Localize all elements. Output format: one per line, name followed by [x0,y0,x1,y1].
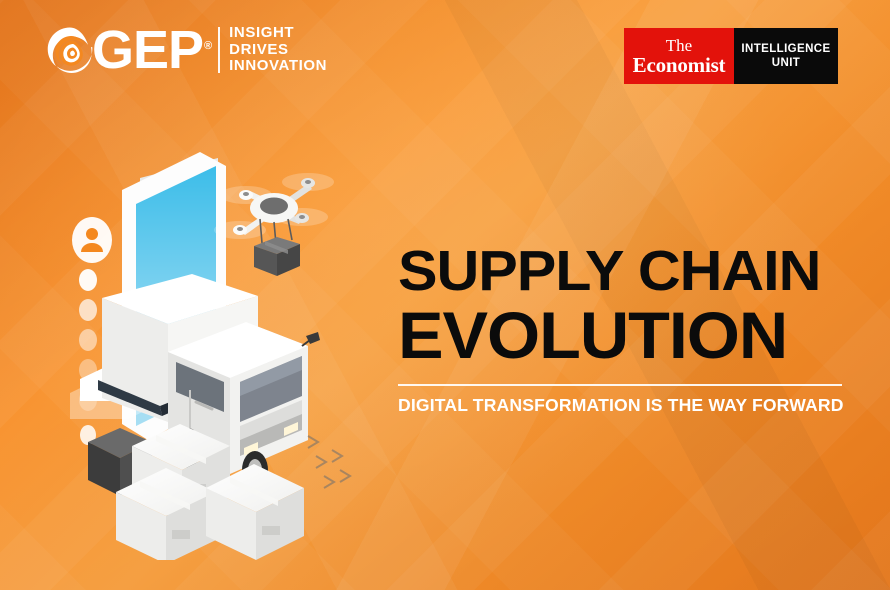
tagline-line-2: DRIVES [229,42,327,59]
poster-canvas: GEP® INSIGHT DRIVES INNOVATION The Econo… [0,0,890,590]
economist-the-text: The [666,37,692,54]
registered-trademark-symbol: ® [204,40,211,52]
headline-divider-rule [398,384,842,386]
economist-intelligence-unit-logo[interactable]: The Economist INTELLIGENCE UNIT [624,28,838,84]
economist-red-block: The Economist [624,28,734,84]
drone-package [254,237,300,276]
gep-logo[interactable]: GEP® INSIGHT DRIVES INNOVATION [46,22,327,78]
intelligence-unit-black-block: INTELLIGENCE UNIT [734,28,838,84]
gep-wordmark: GEP® [92,26,211,74]
headline-line-2: EVOLUTION [398,302,858,368]
headline-subtitle: DIGITAL TRANSFORMATION IS THE WAY FORWAR… [398,395,844,416]
economist-name-text: Economist [633,54,726,76]
headline-block: SUPPLY CHAIN EVOLUTION DIGITAL TRANSFORM… [398,243,842,416]
gep-tagline: INSIGHT DRIVES INNOVATION [229,25,327,75]
logo-divider [218,27,220,73]
delivery-drone [214,173,334,276]
user-avatar-icon [72,217,112,263]
intelligence-text: INTELLIGENCE [741,42,830,56]
tagline-line-3: INNOVATION [229,58,327,75]
unit-text: UNIT [772,56,800,70]
tagline-line-1: INSIGHT [229,25,327,42]
gep-spiral-icon [46,26,94,74]
headline-line-1: SUPPLY CHAIN [398,243,860,300]
supply-chain-illustration [40,140,380,560]
motion-lines [308,436,350,488]
gep-name: GEP [92,20,203,80]
